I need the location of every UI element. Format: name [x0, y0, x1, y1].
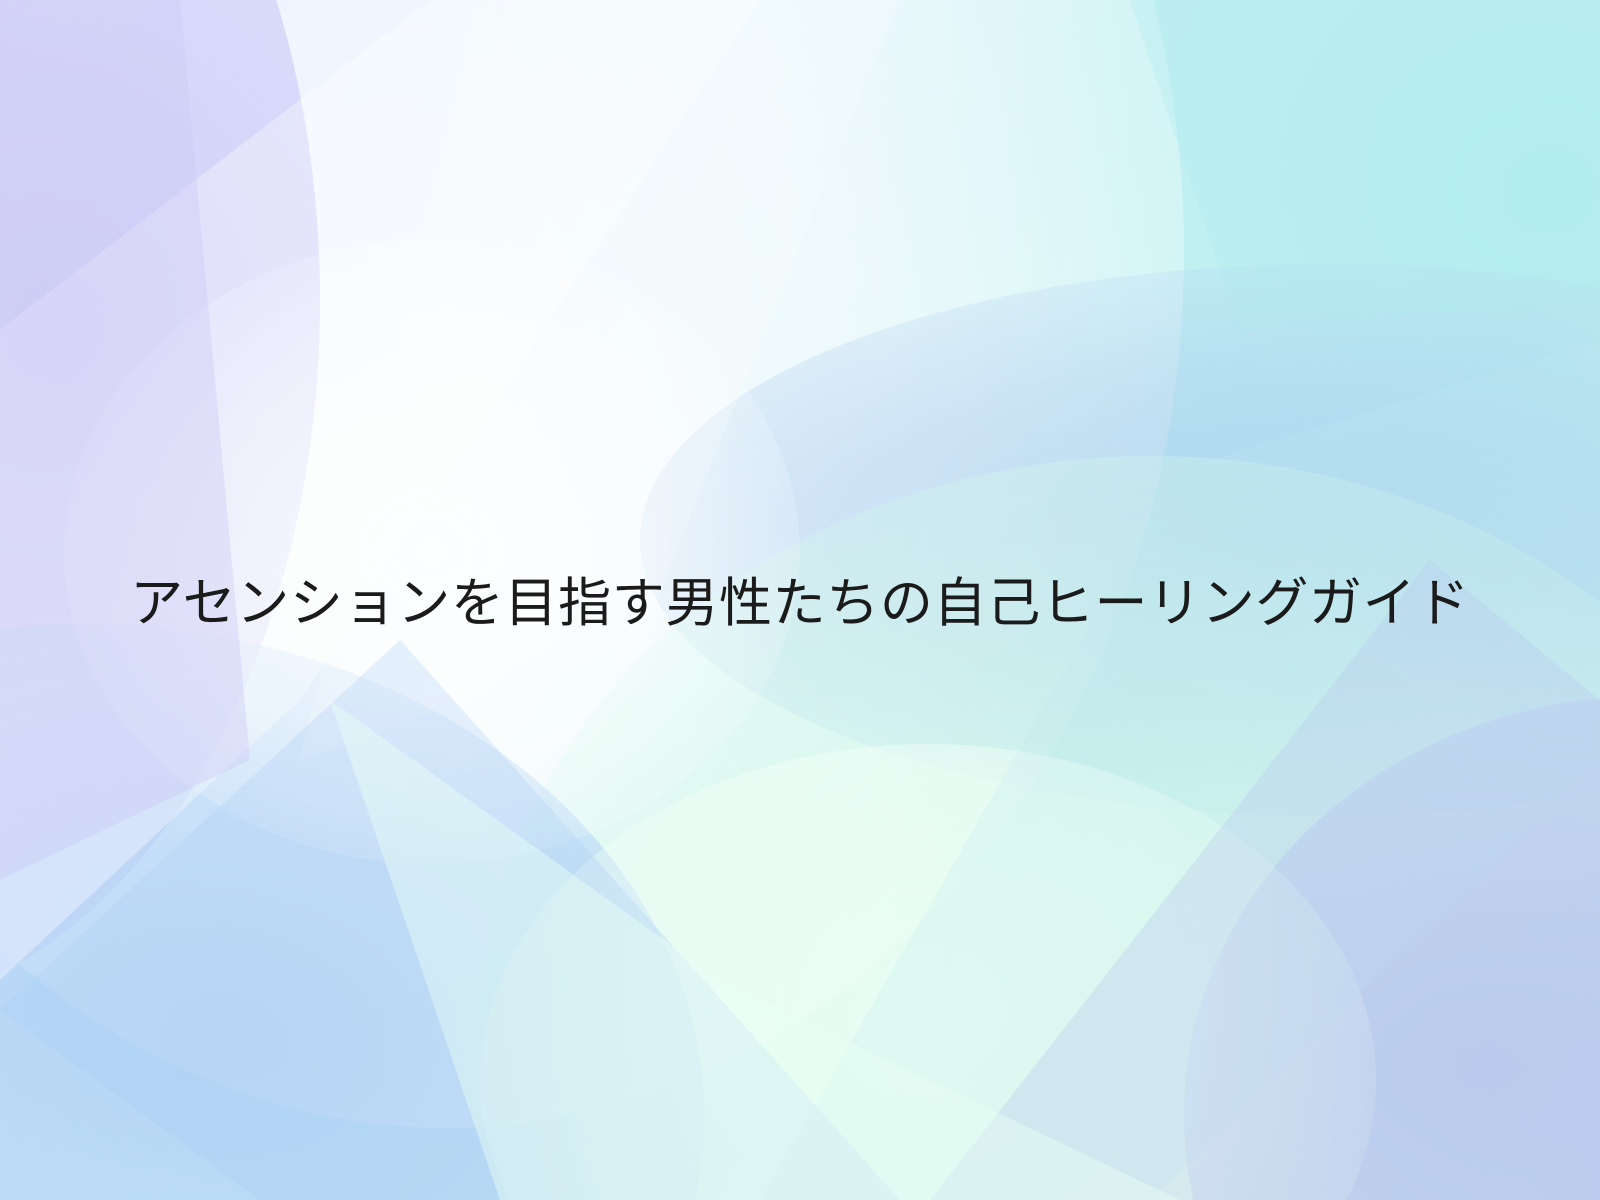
title-slide: アセンションを目指す男性たちの自己ヒーリングガイド [0, 0, 1600, 1200]
title-container: アセンションを目指す男性たちの自己ヒーリングガイド [0, 0, 1600, 1200]
page-title: アセンションを目指す男性たちの自己ヒーリングガイド [130, 573, 1470, 636]
